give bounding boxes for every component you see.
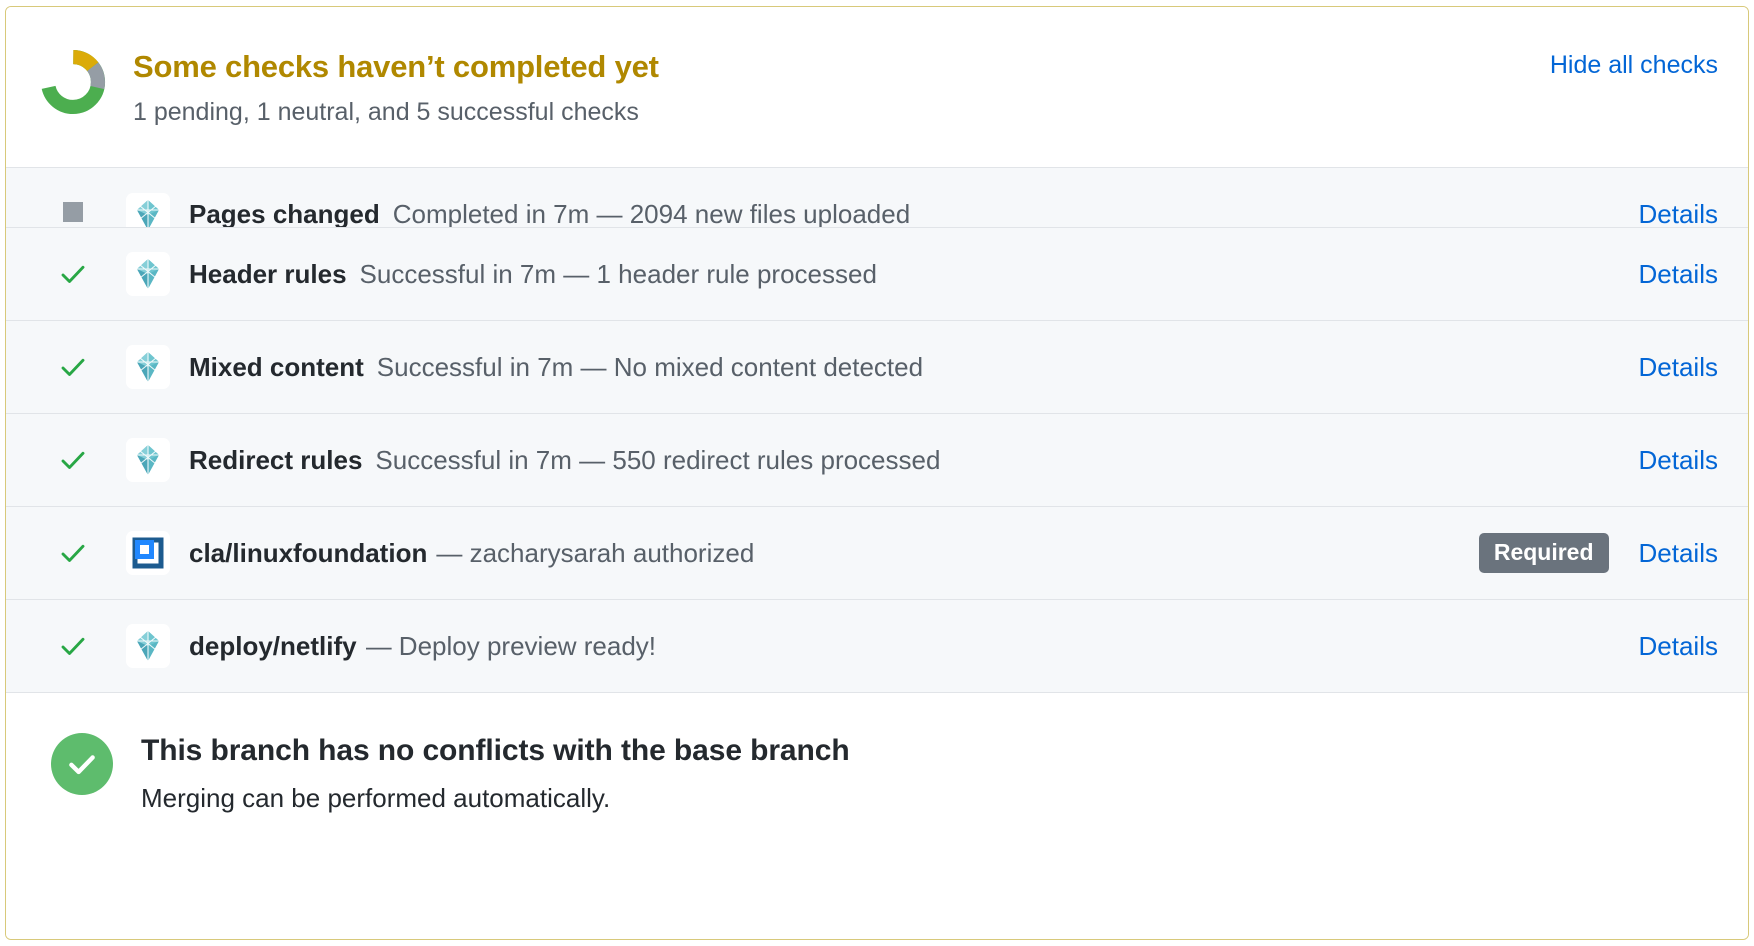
checks-status-header: Some checks haven’t completed yet 1 pend… xyxy=(6,7,1748,167)
check-description: Successful in 7m — 1 header rule process… xyxy=(360,259,877,290)
check-details-link[interactable]: Details xyxy=(1639,538,1718,569)
check-description: — zacharysarah authorized xyxy=(436,538,754,569)
check-name: Mixed content xyxy=(189,352,364,383)
check-row: Header rulesSuccessful in 7m — 1 header … xyxy=(6,228,1748,321)
check-row: cla/linuxfoundation— zacharysarah author… xyxy=(6,507,1748,600)
status-text-block: Some checks haven’t completed yet 1 pend… xyxy=(133,31,1718,130)
check-success-icon xyxy=(58,445,88,475)
checks-list: Pages changedCompleted in 7m — 2094 new … xyxy=(6,167,1748,693)
check-main: Redirect rulesSuccessful in 7m — 550 red… xyxy=(189,445,940,476)
required-badge: Required xyxy=(1479,533,1609,573)
check-success-icon xyxy=(58,352,88,382)
check-row: Redirect rulesSuccessful in 7m — 550 red… xyxy=(6,414,1748,507)
merge-conflict-subtitle: Merging can be performed automatically. xyxy=(141,780,850,816)
merge-conflict-status-section: This branch has no conflicts with the ba… xyxy=(6,693,1748,939)
check-name: Redirect rules xyxy=(189,445,362,476)
check-main: Pages changedCompleted in 7m — 2094 new … xyxy=(189,199,910,228)
check-description: Successful in 7m — 550 redirect rules pr… xyxy=(375,445,940,476)
check-name: deploy/netlify xyxy=(189,631,357,662)
merge-conflict-text-block: This branch has no conflicts with the ba… xyxy=(141,729,850,816)
checks-status-summary: 1 pending, 1 neutral, and 5 successful c… xyxy=(133,95,1718,130)
check-details-link[interactable]: Details xyxy=(1639,259,1718,290)
check-success-icon xyxy=(58,259,88,289)
check-main: Header rulesSuccessful in 7m — 1 header … xyxy=(189,259,877,290)
check-details-link[interactable]: Details xyxy=(1639,631,1718,662)
check-description: Successful in 7m — No mixed content dete… xyxy=(377,352,923,383)
check-main: deploy/netlify— Deploy preview ready! xyxy=(189,631,656,662)
check-name: Pages changed xyxy=(189,199,380,228)
hide-all-checks-link[interactable]: Hide all checks xyxy=(1550,51,1718,80)
check-name: Header rules xyxy=(189,259,347,290)
check-main: cla/linuxfoundation— zacharysarah author… xyxy=(189,538,754,569)
neutral-square-icon xyxy=(58,197,88,227)
check-details-link[interactable]: Details xyxy=(1639,445,1718,476)
check-success-icon xyxy=(58,538,88,568)
check-name: cla/linuxfoundation xyxy=(189,538,427,569)
netlify-diamond-icon xyxy=(126,345,170,389)
netlify-diamond-icon xyxy=(126,438,170,482)
netlify-diamond-icon xyxy=(126,193,170,229)
netlify-diamond-icon xyxy=(126,624,170,668)
merge-conflict-title: This branch has no conflicts with the ba… xyxy=(141,731,850,770)
pull-request-merge-box: Some checks haven’t completed yet 1 pend… xyxy=(5,6,1749,940)
pending-donut-chart-icon xyxy=(40,49,106,115)
check-description: Completed in 7m — 2094 new files uploade… xyxy=(393,199,910,228)
check-row: Mixed contentSuccessful in 7m — No mixed… xyxy=(6,321,1748,414)
linux-foundation-cla-icon xyxy=(126,531,170,575)
check-details-link[interactable]: Details xyxy=(1639,199,1718,228)
check-success-icon xyxy=(58,631,88,661)
checks-status-title: Some checks haven’t completed yet xyxy=(133,48,1718,87)
check-circle-success-icon xyxy=(51,733,113,795)
check-row: deploy/netlify— Deploy preview ready!Det… xyxy=(6,600,1748,693)
netlify-diamond-icon xyxy=(126,252,170,296)
check-details-link[interactable]: Details xyxy=(1639,352,1718,383)
check-main: Mixed contentSuccessful in 7m — No mixed… xyxy=(189,352,923,383)
check-row: Pages changedCompleted in 7m — 2094 new … xyxy=(6,168,1748,228)
check-description: — Deploy preview ready! xyxy=(366,631,656,662)
